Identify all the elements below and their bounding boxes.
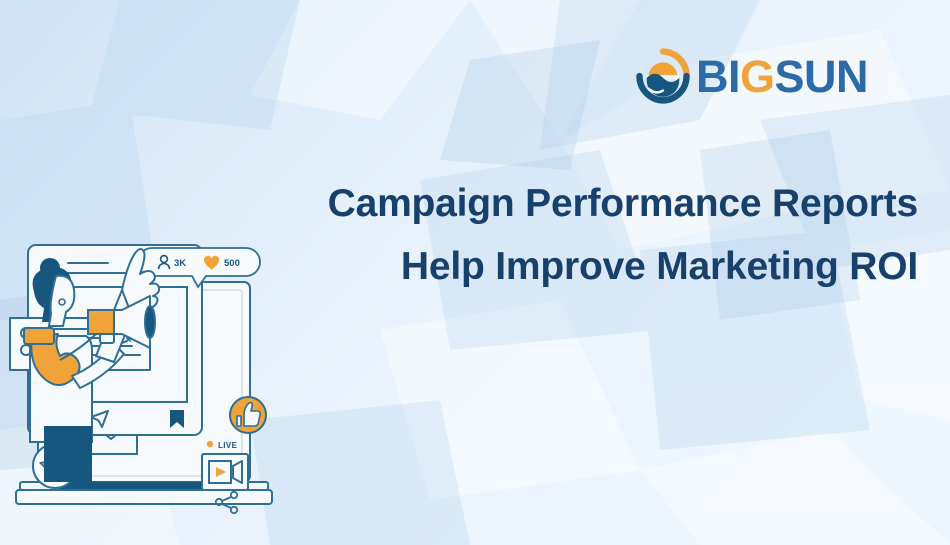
video-play-icon[interactable] (202, 454, 248, 490)
live-label: LIVE (218, 441, 238, 450)
headline-line-1: Campaign Performance Reports (218, 172, 918, 235)
thumbs-up-badge (230, 397, 266, 433)
likes-value: 500 (224, 258, 240, 269)
live-dot-icon (207, 441, 213, 447)
wordmark-bi: BI (696, 51, 740, 102)
followers-value: 3K (174, 258, 186, 269)
brand-logo[interactable]: BIGSUN (634, 47, 868, 105)
headline-line-2: Help Improve Marketing ROI (218, 235, 918, 298)
wordmark-g: G (740, 51, 775, 102)
bigsun-sun-wave-circle-logo-icon (634, 47, 692, 105)
marketing-illustration: B (0, 240, 320, 545)
brand-wordmark: BIGSUN (696, 54, 868, 99)
banner-root: BIGSUN Campaign Performance Reports Help… (0, 0, 950, 545)
wordmark-sun: SUN (775, 51, 869, 102)
page-title: Campaign Performance Reports Help Improv… (218, 172, 918, 298)
